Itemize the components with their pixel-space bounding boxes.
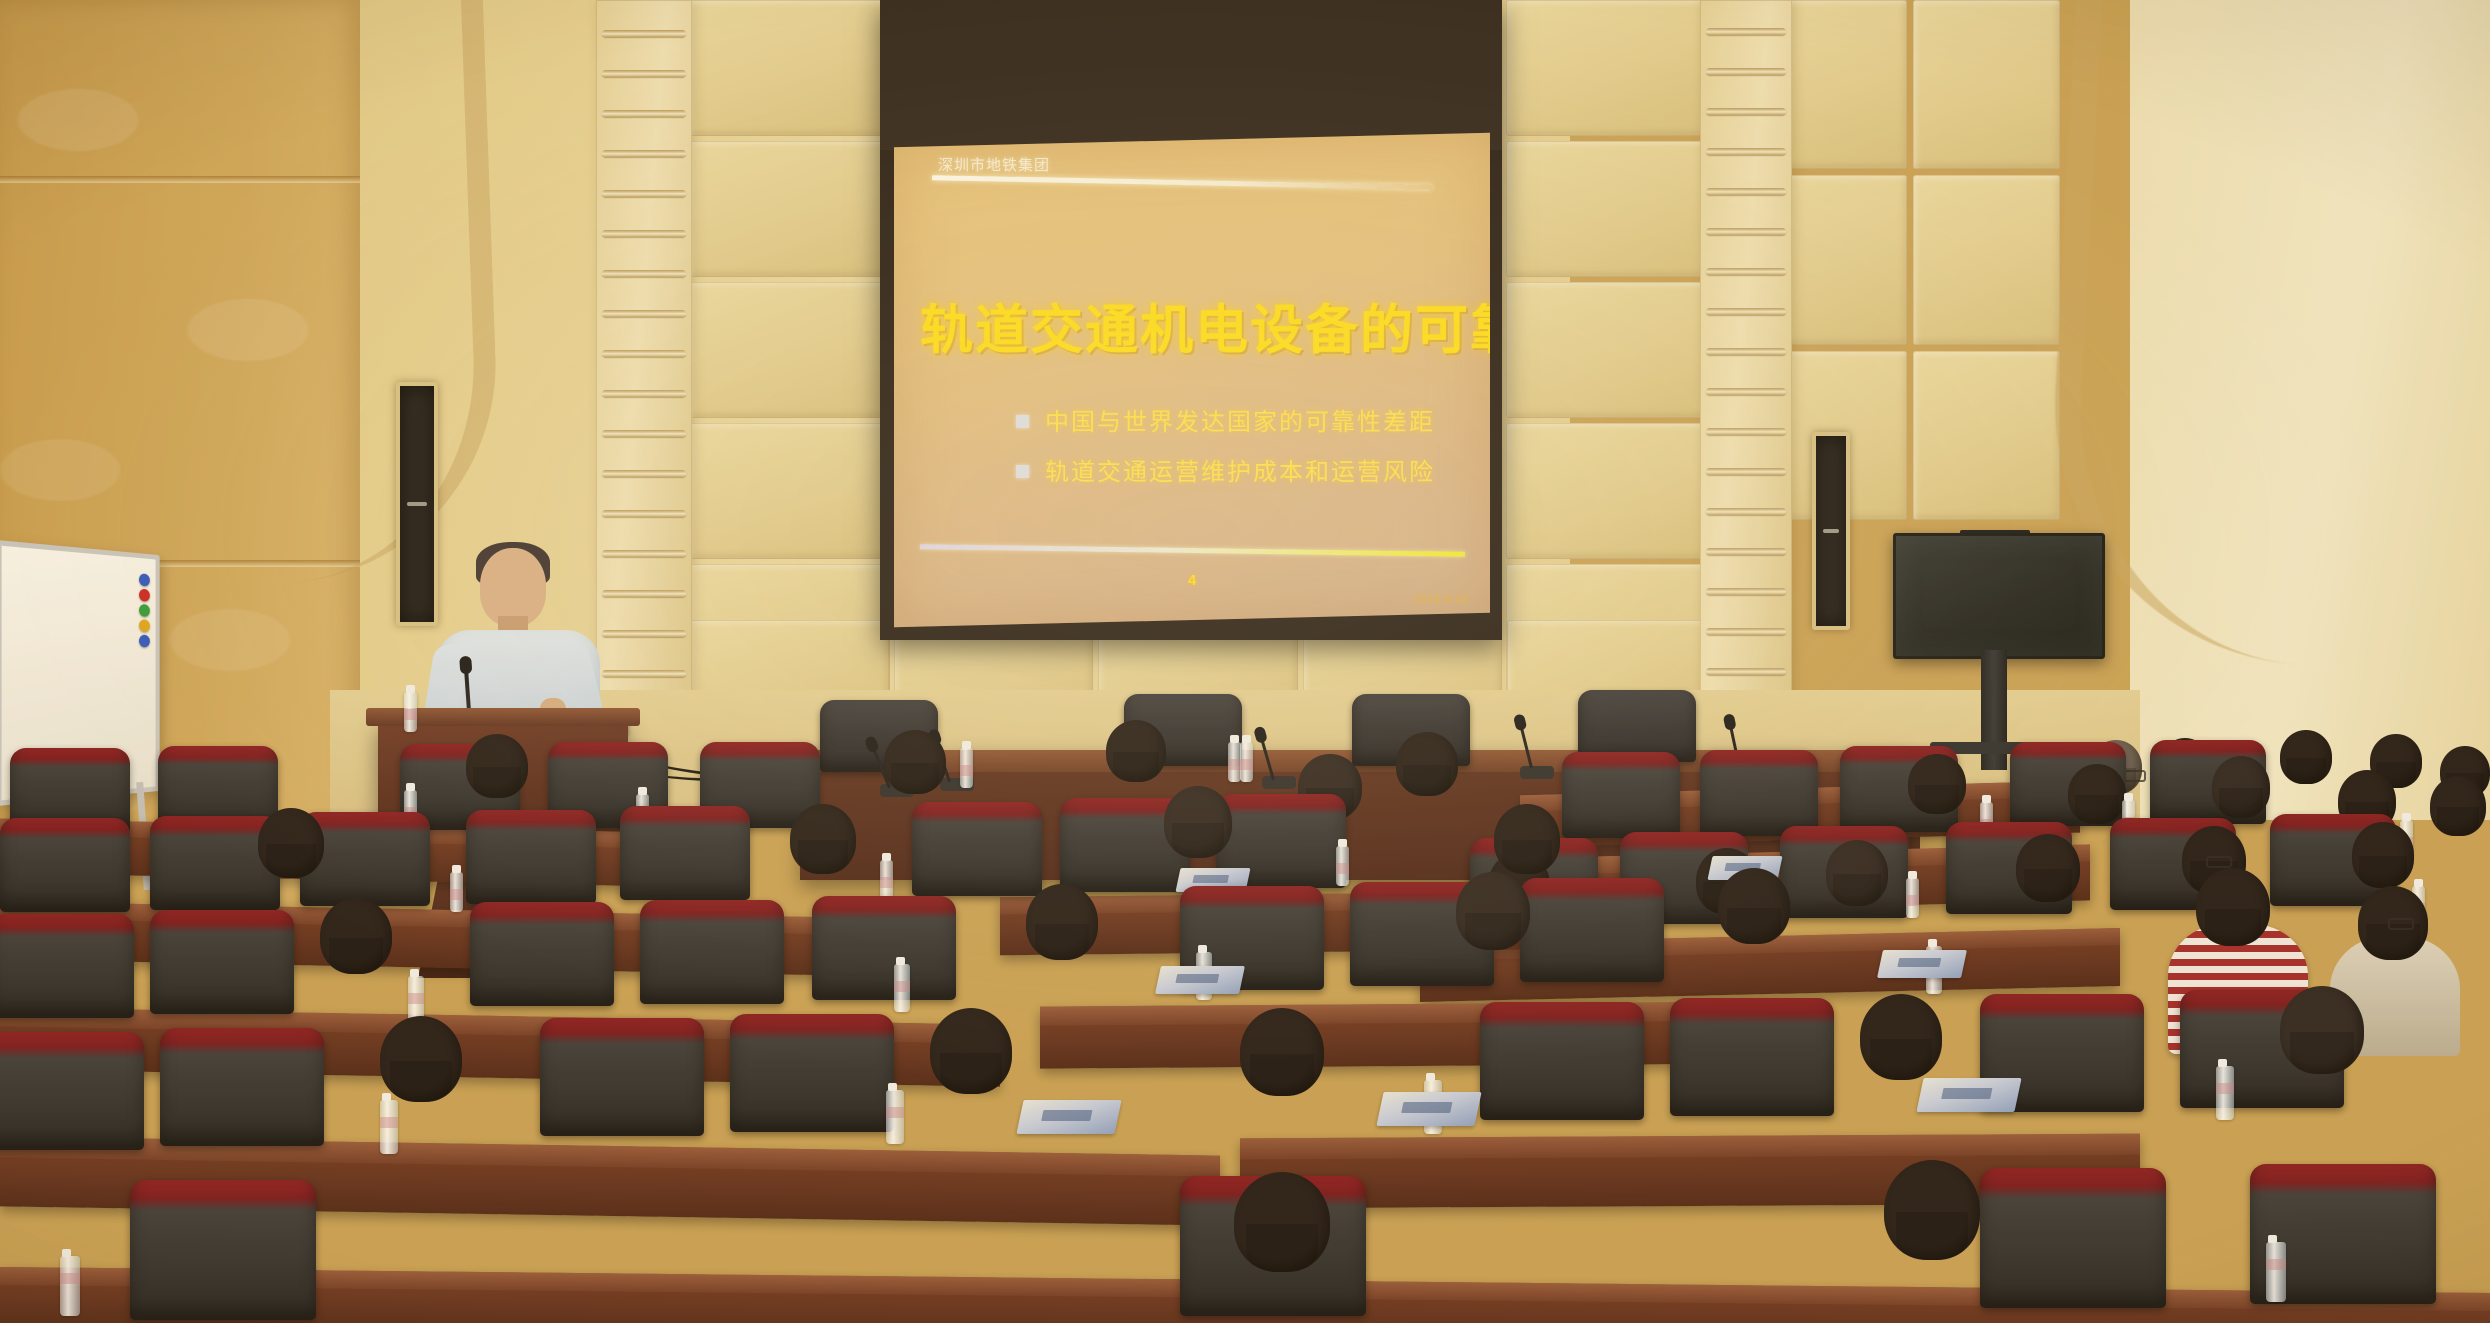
slide-bullet-text: 轨道交通运营维护成本和运营风险 <box>1045 459 1435 486</box>
screen-top-border <box>880 0 1502 150</box>
bullet-square-icon <box>1016 415 1029 428</box>
audience-head <box>380 1016 462 1102</box>
wall-speaker-right <box>1812 432 1850 630</box>
slide-bullet-item: 轨道交通运营维护成本和运营风险 <box>1016 452 1435 487</box>
bottle <box>894 964 910 1012</box>
audience-head <box>1456 872 1530 950</box>
magnet-dot <box>139 635 150 648</box>
audience-head <box>1026 884 1098 960</box>
auditorium-seat <box>1562 752 1680 838</box>
auditorium-seat <box>0 818 130 912</box>
slide-footer-rule <box>920 544 1465 557</box>
auditorium-seat <box>1480 1002 1644 1120</box>
slide-header-text: 深圳市地铁集团 <box>938 154 1050 175</box>
audience-head <box>466 734 528 798</box>
audience-head <box>1396 732 1458 796</box>
slide-date: 2016-6-23 <box>1413 592 1468 606</box>
acoustic-tile-field-right <box>1506 0 1706 700</box>
bottle <box>60 1256 80 1316</box>
magnet-dot <box>139 573 150 586</box>
bottle <box>880 860 893 900</box>
magnet-dot <box>139 589 150 602</box>
auditorium-seat <box>640 900 784 1004</box>
audience-head <box>2430 776 2486 836</box>
audience-head <box>2212 756 2270 818</box>
eyeglasses <box>2388 918 2414 930</box>
slide-page-number: 4 <box>894 572 1490 589</box>
auditorium-seat <box>1670 998 1834 1116</box>
audience-head <box>2280 730 2332 784</box>
audience-head <box>1718 868 1790 944</box>
audience-head <box>2016 834 2080 902</box>
audience-head <box>1860 994 1942 1080</box>
ribbed-column-right <box>1700 0 1792 730</box>
auditorium-seat <box>466 810 596 904</box>
booklet <box>1155 966 1245 994</box>
auditorium-seat <box>1520 878 1664 982</box>
auditorium-seat <box>0 914 134 1018</box>
bottle <box>450 872 463 912</box>
bullet-square-icon <box>1016 465 1029 478</box>
audience-head <box>320 898 392 974</box>
auditorium-seat <box>812 896 956 1000</box>
magnet-dot <box>139 619 150 632</box>
presenter-head <box>480 548 546 626</box>
acoustic-tile-field-left <box>690 0 890 700</box>
bottle <box>2266 1242 2286 1302</box>
booklet <box>1376 1092 1481 1126</box>
projection-screen: 深圳市地铁集团 轨道交通机电设备的可靠性 中国与世界发达国家的可靠性差距 轨道交… <box>880 0 1502 640</box>
audience-area <box>0 760 2490 1323</box>
audience-head <box>884 730 946 794</box>
wall-display <box>1893 533 2105 659</box>
auditorium-seat <box>150 910 294 1014</box>
bottle <box>380 1100 398 1154</box>
audience-head <box>1164 786 1232 858</box>
lecture-hall-photo: 深圳市地铁集团 轨道交通机电设备的可靠性 中国与世界发达国家的可靠性差距 轨道交… <box>0 0 2490 1323</box>
booklet <box>1877 950 1967 978</box>
bottle <box>886 1090 904 1144</box>
audience-head <box>258 808 324 878</box>
auditorium-seat <box>1980 1168 2166 1308</box>
presentation-slide: 深圳市地铁集团 轨道交通机电设备的可靠性 中国与世界发达国家的可靠性差距 轨道交… <box>894 133 1490 628</box>
booklet <box>1016 1100 1121 1134</box>
bottle <box>2216 1066 2234 1120</box>
auditorium-seat <box>470 902 614 1006</box>
auditorium-seat <box>0 1032 144 1150</box>
slide-bullet-item: 中国与世界发达国家的可靠性差距 <box>1016 402 1435 437</box>
slide-bullet-text: 中国与世界发达国家的可靠性差距 <box>1045 409 1435 436</box>
audience-head <box>2352 822 2414 888</box>
auditorium-seat <box>540 1018 704 1136</box>
slide-header-rule <box>932 175 1432 190</box>
audience-head <box>1826 840 1888 906</box>
ribbed-column-left <box>596 0 692 740</box>
bottle <box>404 692 417 732</box>
auditorium-seat <box>130 1180 316 1320</box>
bottle <box>1906 878 1919 918</box>
audience-head <box>1234 1172 1330 1272</box>
audience-head <box>1908 754 1966 814</box>
audience-head <box>1494 804 1560 874</box>
audience-head <box>2196 868 2270 946</box>
audience-head <box>2280 986 2364 1074</box>
magnet-dot <box>139 604 150 617</box>
slide-title: 轨道交通机电设备的可靠性 <box>920 288 1465 364</box>
acoustic-tile-field-upper-right <box>1760 0 2060 520</box>
audience-head <box>1106 720 1166 782</box>
bottle <box>1336 846 1349 886</box>
auditorium-seat <box>160 1028 324 1146</box>
auditorium-seat <box>912 802 1042 896</box>
audience-head <box>1240 1008 1324 1096</box>
audience-head <box>790 804 856 874</box>
audience-head <box>1884 1160 1980 1260</box>
booklet <box>1916 1078 2021 1112</box>
audience-head <box>2068 764 2126 824</box>
audience-head <box>930 1008 1012 1094</box>
auditorium-seat <box>620 806 750 900</box>
eyeglasses <box>2206 856 2232 868</box>
auditorium-seat <box>1700 750 1818 836</box>
auditorium-seat <box>730 1014 894 1132</box>
